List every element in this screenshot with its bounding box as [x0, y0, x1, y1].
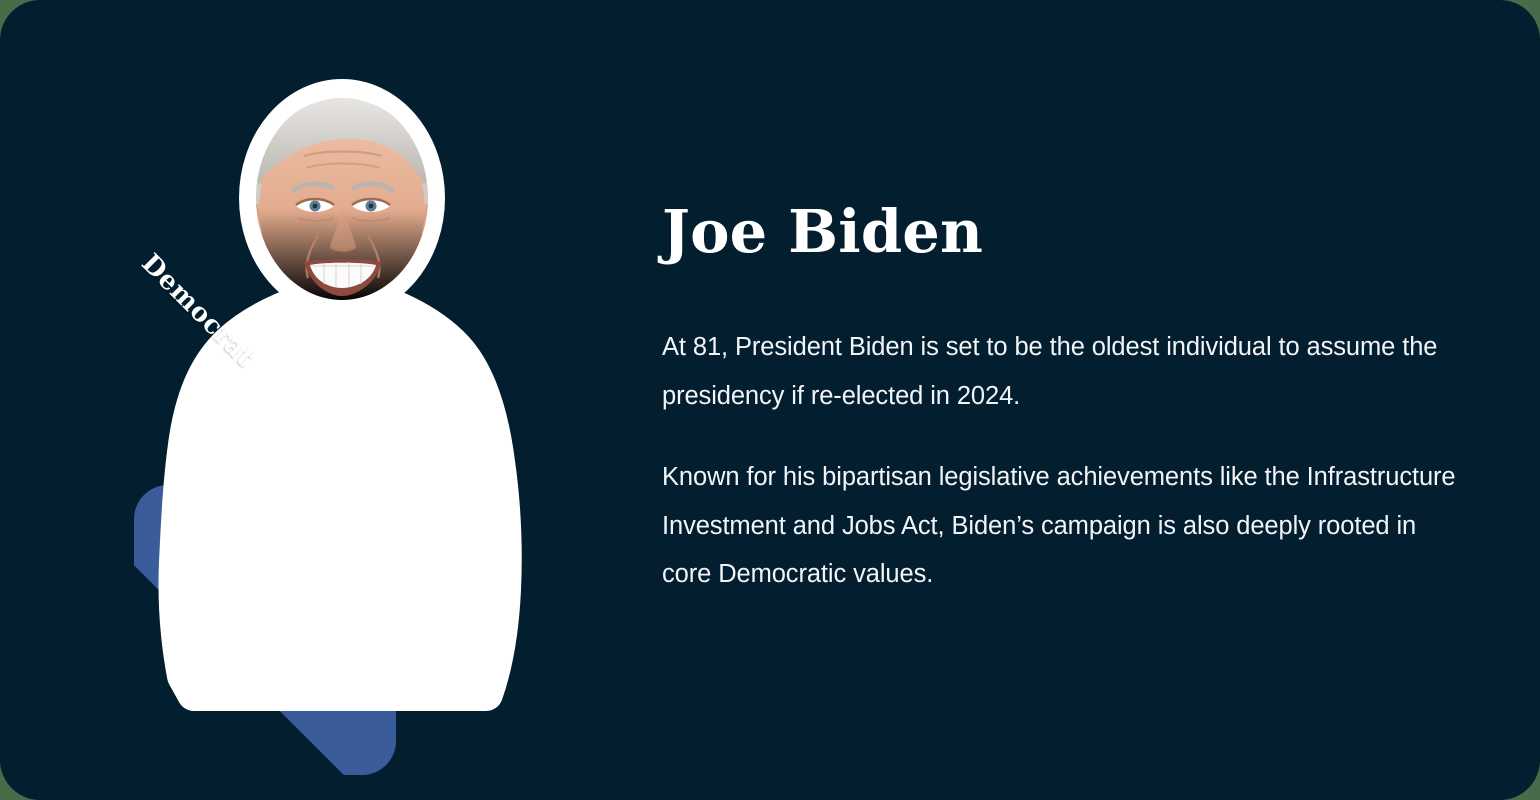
profile-text-column: Joe Biden At 81, President Biden is set …	[662, 196, 1472, 599]
candidate-name: Joe Biden	[662, 196, 1472, 268]
profile-paragraph-2: Known for his bipartisan legislative ach…	[662, 453, 1472, 599]
portrait-zone: Democrat	[108, 70, 578, 730]
candidate-profile-card: Democrat	[0, 0, 1540, 800]
profile-paragraph-1: At 81, President Biden is set to be the …	[662, 323, 1472, 420]
portrait-cutout-icon	[108, 70, 578, 730]
